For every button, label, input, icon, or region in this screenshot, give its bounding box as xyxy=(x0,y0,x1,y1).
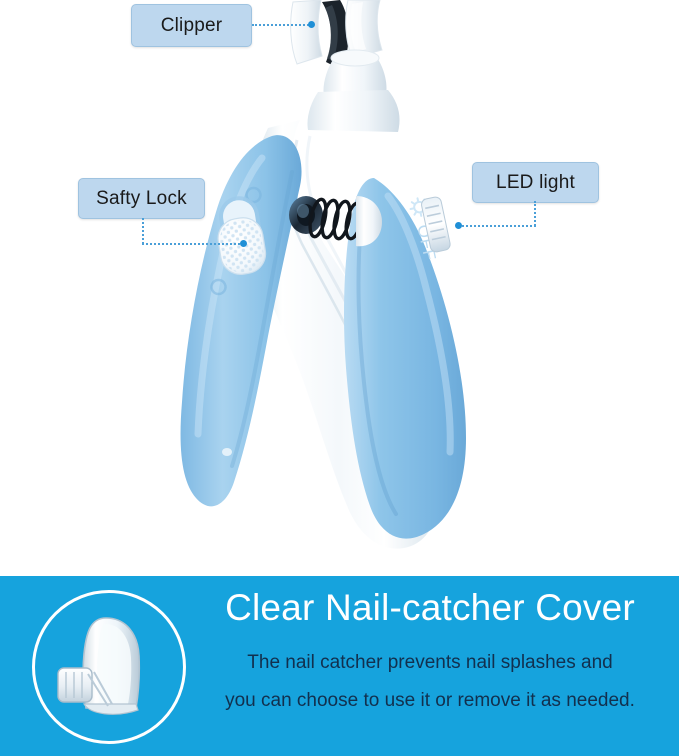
callout-led-light[interactable]: LED light xyxy=(472,162,599,203)
leader-line-safety-vertical xyxy=(142,218,144,244)
callout-clipper-label: Clipper xyxy=(161,15,223,37)
leader-line-clipper xyxy=(252,24,312,26)
callout-safety-lock[interactable]: Safty Lock xyxy=(78,178,205,219)
callout-safety-lock-label: Safty Lock xyxy=(96,188,187,210)
banner-icon-wrap xyxy=(32,590,184,742)
banner-title: Clear Nail-catcher Cover xyxy=(190,584,670,632)
feature-banner: Clear Nail-catcher Cover The nail catche… xyxy=(0,576,679,756)
clipper-neck xyxy=(307,50,399,132)
banner-body-line-1: The nail catcher prevents nail splashes … xyxy=(190,644,670,682)
leader-dot-led-light xyxy=(455,222,462,229)
infographic-page: OFF xyxy=(0,0,679,756)
product-illustration-area: OFF xyxy=(0,0,679,576)
callout-clipper[interactable]: Clipper xyxy=(131,4,252,47)
banner-body: The nail catcher prevents nail splashes … xyxy=(190,644,670,720)
pet-nail-clipper-illustration: OFF xyxy=(0,0,679,576)
leader-line-safety-horizontal xyxy=(142,243,244,245)
leader-dot-safety-lock xyxy=(240,240,247,247)
nail-catcher-cover-icon xyxy=(56,612,160,720)
banner-text-block: Clear Nail-catcher Cover The nail catche… xyxy=(190,584,670,720)
leader-line-led-horizontal xyxy=(458,225,536,227)
catcher-collar-clip xyxy=(58,668,92,702)
banner-body-line-2: you can choose to use it or remove it as… xyxy=(190,682,670,720)
leader-dot-clipper xyxy=(308,21,315,28)
leader-line-led-vertical xyxy=(534,201,536,226)
callout-led-light-label: LED light xyxy=(496,172,575,194)
